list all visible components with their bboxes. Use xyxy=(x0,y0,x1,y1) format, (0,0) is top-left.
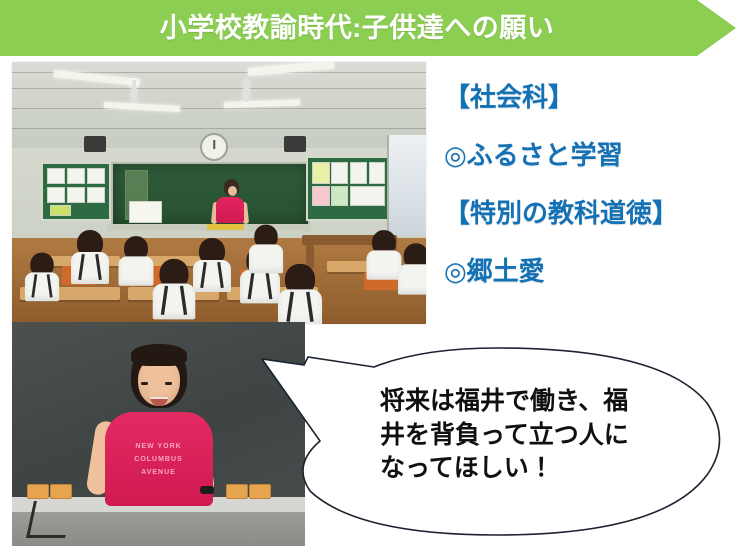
notice-paper xyxy=(312,162,330,184)
slide-root: 小学校教諭時代:子供達への願い xyxy=(0,0,736,552)
student-figure xyxy=(152,259,197,317)
notice-paper xyxy=(369,162,385,184)
ceiling-line xyxy=(12,128,426,129)
lamp-pole xyxy=(244,80,249,102)
tshirt-text-line3: AVENUE xyxy=(105,466,213,479)
notice-paper xyxy=(350,186,385,206)
notice-paper xyxy=(47,187,65,203)
student-body xyxy=(240,270,280,304)
notice-paper xyxy=(331,162,349,184)
notice-paper xyxy=(350,162,368,184)
student-figure xyxy=(397,243,426,292)
notice-paper xyxy=(47,168,65,184)
student-figure xyxy=(24,253,60,300)
page-title: 小学校教諭時代:子供達への願い xyxy=(160,15,577,42)
subject-line-shakaika: 【社会科】 xyxy=(444,84,734,110)
notice-paper xyxy=(50,205,72,216)
lamp-pole xyxy=(132,80,136,102)
speech-line-2: 井を背負って立つ人に xyxy=(380,419,680,453)
notice-paper xyxy=(331,186,349,206)
speech-line-3: なってほしい！ xyxy=(380,452,680,486)
notice-paper xyxy=(312,186,330,206)
teacher-body xyxy=(216,197,244,223)
speech-line-1: 将来は福井で働き、福 xyxy=(380,385,680,419)
student-figure xyxy=(192,238,232,290)
window xyxy=(387,135,426,235)
notice-paper xyxy=(87,168,105,184)
subject-line-furusato-gakushu: ◎ふるさと学習 xyxy=(444,142,734,168)
subject-line-kyodoai: ◎郷土愛 xyxy=(444,258,734,284)
student-body xyxy=(119,256,154,285)
bulletin-board-left xyxy=(41,162,111,221)
student-body xyxy=(153,284,196,320)
tshirt-text-line1: NEW YORK xyxy=(105,440,213,453)
student-body xyxy=(71,252,109,284)
ceiling-line xyxy=(12,108,426,109)
wall-clock xyxy=(200,133,228,161)
student-body xyxy=(398,264,426,294)
subject-line-tokubetsu-dotoku: 【特別の教科道徳】 xyxy=(444,200,734,226)
teacher-tshirt: NEW YORK COLUMBUS AVENUE xyxy=(105,412,213,506)
notice-paper xyxy=(67,187,85,203)
subject-list: 【社会科】 ◎ふるさと学習 【特別の教科道徳】 ◎郷土愛 xyxy=(444,84,734,284)
notice-paper xyxy=(87,187,105,203)
blackboard-eraser xyxy=(226,484,248,499)
teacher-desk xyxy=(207,224,244,230)
speech-bubble-text: 将来は福井で働き、福 井を背負って立つ人に なってほしい！ xyxy=(380,385,680,486)
blackboard-eraser xyxy=(50,484,72,499)
student-body xyxy=(193,260,231,292)
speaker-box xyxy=(284,136,306,152)
easel-frame xyxy=(26,501,73,538)
student-body xyxy=(25,272,59,301)
student-body xyxy=(278,289,322,324)
student-figure xyxy=(277,264,323,324)
speaker-box xyxy=(84,136,106,152)
notice-paper xyxy=(67,168,85,184)
tshirt-text-line2: COLUMBUS xyxy=(105,453,213,466)
board-paper xyxy=(129,201,162,223)
wrist-watch xyxy=(200,486,214,494)
classroom-lesson-photo xyxy=(12,62,426,324)
student-figure xyxy=(118,236,155,284)
speech-bubble: 将来は福井で働き、福 井を背負って立つ人に なってほしい！ xyxy=(262,345,718,535)
blackboard-eraser xyxy=(27,484,49,499)
bulletin-board-right xyxy=(306,156,389,220)
student-figure xyxy=(70,230,110,282)
ceiling-line xyxy=(12,88,426,89)
header-banner: 小学校教諭時代:子供達への願い xyxy=(0,0,736,56)
tshirt-graphic: NEW YORK COLUMBUS AVENUE xyxy=(105,440,213,480)
teacher-fringe xyxy=(131,344,187,366)
